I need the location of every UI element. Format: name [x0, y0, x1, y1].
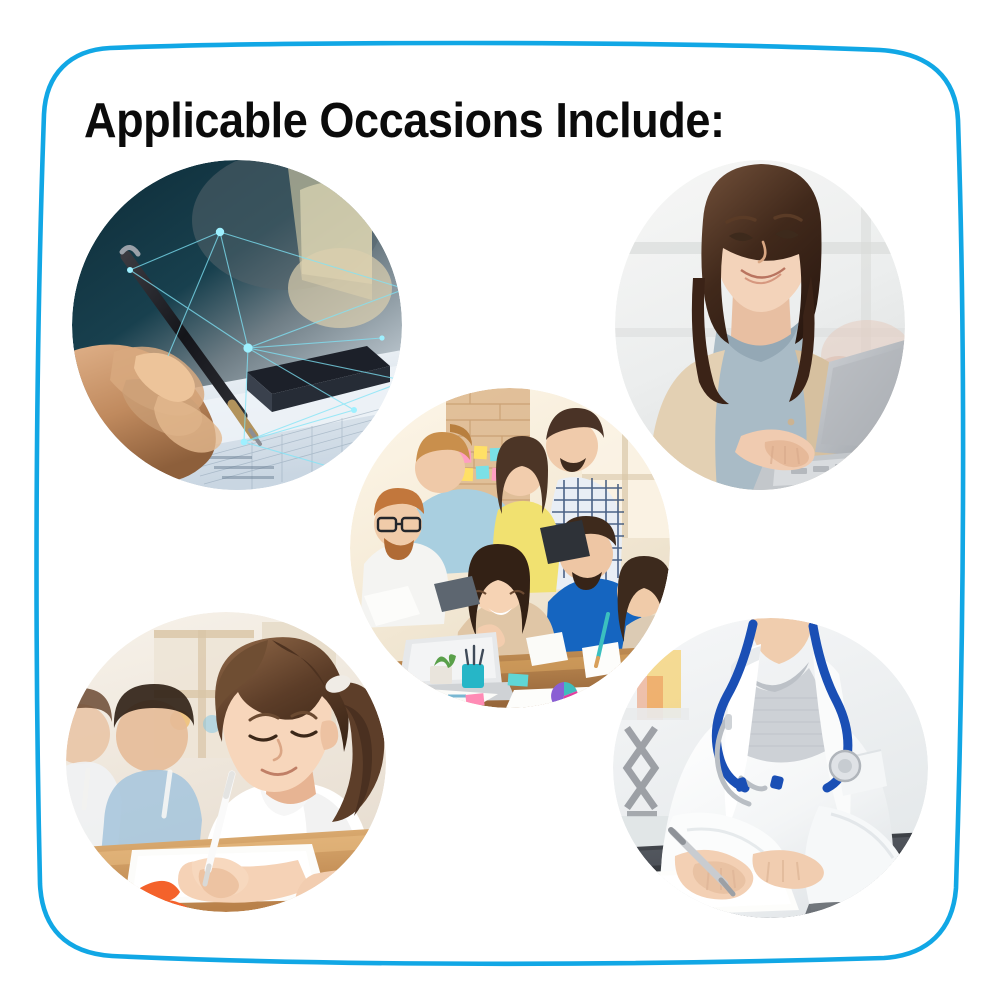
- poster-canvas: Applicable Occasions Include:: [0, 0, 1000, 1000]
- page-title: Applicable Occasions Include:: [84, 96, 725, 147]
- school-photo: [66, 612, 386, 912]
- occasion-health-care[interactable]: Health Care: [613, 618, 928, 918]
- health-care-photo: [613, 618, 928, 918]
- occasion-school[interactable]: School: [66, 612, 386, 912]
